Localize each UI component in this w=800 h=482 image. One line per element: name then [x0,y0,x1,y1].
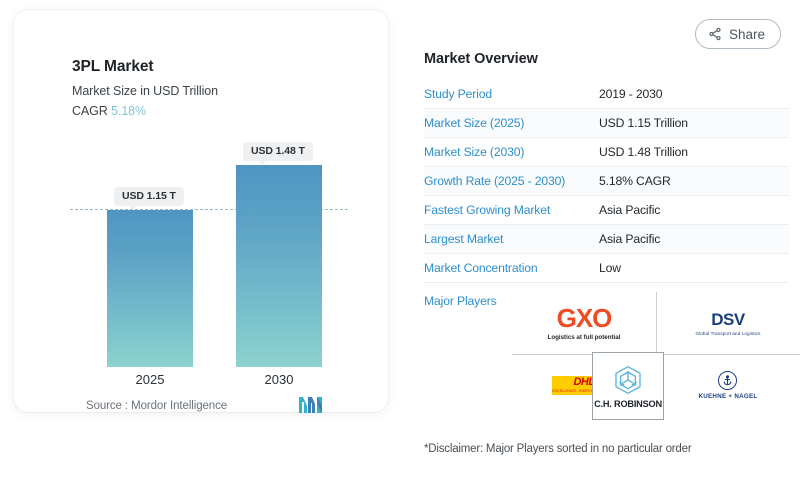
row-value: Low [599,261,621,275]
player-logo-gxo: GXO Logistics at full potential [512,292,656,354]
table-row: Growth Rate (2025 - 2030) 5.18% CAGR [424,167,789,196]
market-overview-table: Study Period 2019 - 2030 Market Size (20… [424,80,789,283]
gxo-tagline: Logistics at full potential [548,334,621,341]
table-row: Market Size (2025) USD 1.15 Trillion [424,109,789,138]
anchor-icon [718,371,737,390]
row-key: Market Size (2030) [424,145,599,159]
row-value: USD 1.15 Trillion [599,116,688,130]
table-row: Market Concentration Low [424,254,789,283]
row-key: Largest Market [424,232,599,246]
row-key: Market Concentration [424,261,599,275]
gxo-wordmark: GXO [548,305,621,331]
row-value: Asia Pacific [599,232,660,246]
bar-chart-plot: USD 1.15 T USD 1.48 T 2025 2030 [14,10,388,412]
chart-card: 3PL Market Market Size in USD Trillion C… [14,10,388,412]
table-row: Market Size (2030) USD 1.48 Trillion [424,138,789,167]
dsv-wordmark: DSV [695,311,760,328]
source-text: Source : Mordor Intelligence [86,400,227,412]
table-row: Largest Market Asia Pacific [424,225,789,254]
bar-label-2025: USD 1.15 T [114,187,184,206]
kuehne-nagel-wordmark: KUEHNE + NAGEL [698,393,757,400]
row-value: USD 1.48 Trillion [599,145,688,159]
disclaimer-text: *Disclaimer: Major Players sorted in no … [424,443,691,455]
screenshot-root: 3PL Market Market Size in USD Trillion C… [0,0,800,482]
mordor-intelligence-logo [299,397,323,413]
table-row: Study Period 2019 - 2030 [424,80,789,109]
row-key: Market Size (2025) [424,116,599,130]
row-value: 5.18% CAGR [599,174,671,188]
major-players-label: Major Players [424,294,497,308]
cube-hexagon-icon [612,364,644,396]
player-logo-dsv: DSV Global Transport and Logistics [656,292,800,354]
row-value: Asia Pacific [599,203,660,217]
player-logo-kuehne-nagel: KUEHNE + NAGEL [656,354,800,416]
bar-label-2030: USD 1.48 T [243,142,313,161]
panel-title: Market Overview [424,51,538,67]
ch-robinson-wordmark: C.H. ROBINSON [594,399,662,409]
table-row: Fastest Growing Market Asia Pacific [424,196,789,225]
row-key: Growth Rate (2025 - 2030) [424,174,599,188]
row-key: Study Period [424,87,599,101]
row-key: Fastest Growing Market [424,203,599,217]
anchor-glyph [722,375,733,386]
bar-2030 [236,165,322,367]
bar-2025 [107,210,193,367]
market-overview-panel: Market Overview Study Period 2019 - 2030… [424,0,800,482]
x-tick-2030: 2030 [236,372,322,387]
row-value: 2019 - 2030 [599,87,662,101]
dsv-tagline: Global Transport and Logistics [695,331,760,336]
x-tick-2025: 2025 [107,372,193,387]
player-logo-ch-robinson: C.H. ROBINSON [592,352,664,420]
